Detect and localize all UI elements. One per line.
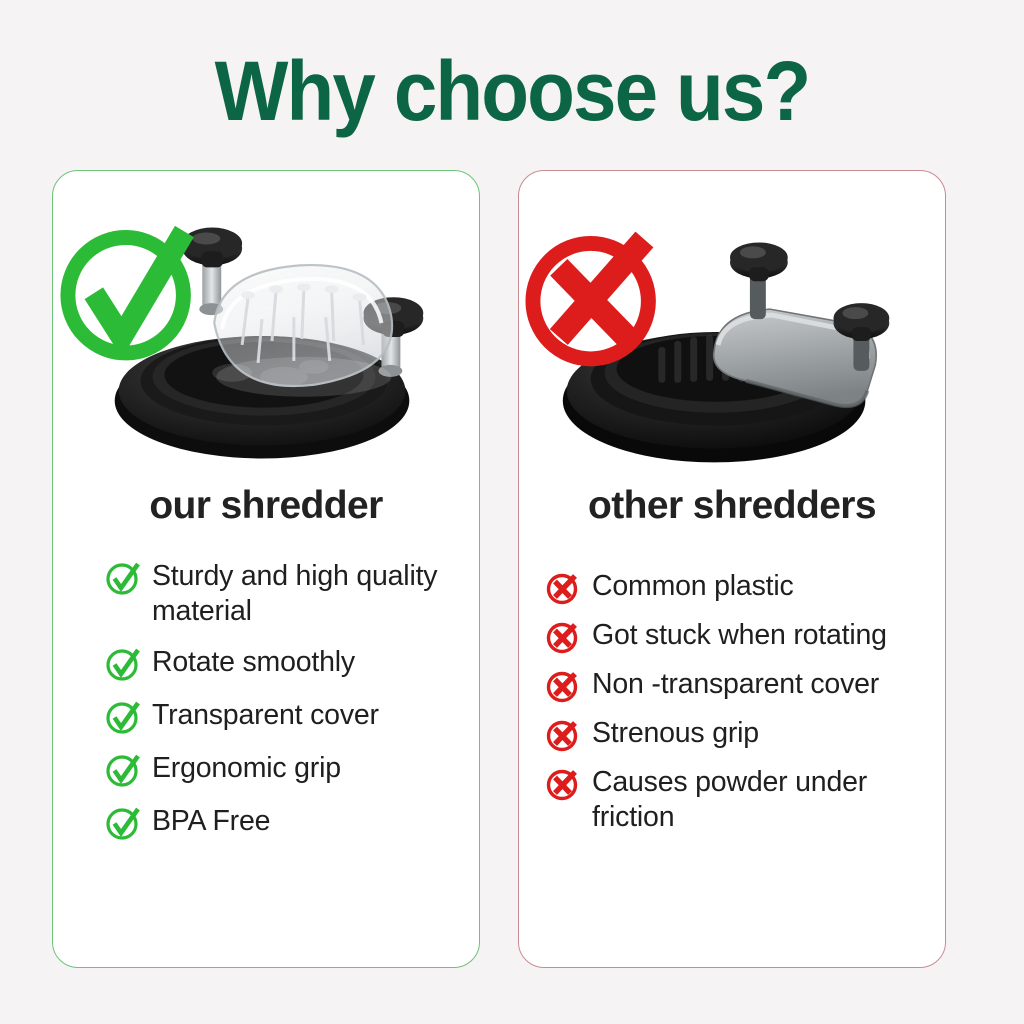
list-item: BPA Free: [105, 804, 465, 841]
check-circle-badge-icon: [68, 232, 184, 353]
list-item-label: Transparent cover: [152, 698, 379, 733]
card-our-shredder: our shredder Sturdy and high quality mat…: [52, 170, 480, 968]
x-circle-icon: [545, 570, 581, 606]
list-item: Causes powder under friction: [545, 765, 937, 835]
feature-list-other-shredders: Common plastic Got stuck when rotating: [519, 569, 945, 847]
check-circle-icon: [105, 560, 141, 596]
page-title: Why choose us?: [36, 44, 988, 138]
x-circle-icon: [545, 668, 581, 704]
x-circle-icon: [545, 766, 581, 802]
list-item-label: Sturdy and high quality material: [152, 559, 442, 629]
x-circle-icon: [545, 619, 581, 655]
list-item-label: Causes powder under friction: [592, 765, 922, 835]
product-image-our-shredder: [53, 205, 479, 473]
list-item-label: BPA Free: [152, 804, 270, 839]
list-item-label: Common plastic: [592, 569, 794, 604]
card-other-shredders: other shredders Common plastic: [518, 170, 946, 968]
check-circle-icon: [105, 805, 141, 841]
list-item-label: Got stuck when rotating: [592, 618, 887, 653]
x-circle-badge-icon: [533, 239, 648, 358]
check-circle-icon: [105, 699, 141, 735]
list-item: Common plastic: [545, 569, 937, 606]
x-circle-icon: [545, 717, 581, 753]
list-item-label: Ergonomic grip: [152, 751, 341, 786]
list-item-label: Strenous grip: [592, 716, 759, 751]
card-heading-our-shredder: our shredder: [53, 483, 479, 529]
list-item: Got stuck when rotating: [545, 618, 937, 655]
list-item: Transparent cover: [105, 698, 465, 735]
feature-list-our-shredder: Sturdy and high quality material Rotate …: [53, 559, 479, 857]
list-item: Rotate smoothly: [105, 645, 465, 682]
comparison-cards: our shredder Sturdy and high quality mat…: [0, 170, 1024, 970]
list-item: Sturdy and high quality material: [105, 559, 465, 629]
list-item: Ergonomic grip: [105, 751, 465, 788]
product-image-other-shredders: [519, 205, 945, 473]
check-circle-icon: [105, 646, 141, 682]
list-item: Strenous grip: [545, 716, 937, 753]
check-circle-icon: [105, 752, 141, 788]
list-item: Non -transparent cover: [545, 667, 937, 704]
our-shredder-illustration: [53, 205, 479, 473]
list-item-label: Non -transparent cover: [592, 667, 879, 702]
other-shredders-illustration: [519, 205, 945, 473]
card-heading-other-shredders: other shredders: [519, 483, 945, 529]
list-item-label: Rotate smoothly: [152, 645, 355, 680]
